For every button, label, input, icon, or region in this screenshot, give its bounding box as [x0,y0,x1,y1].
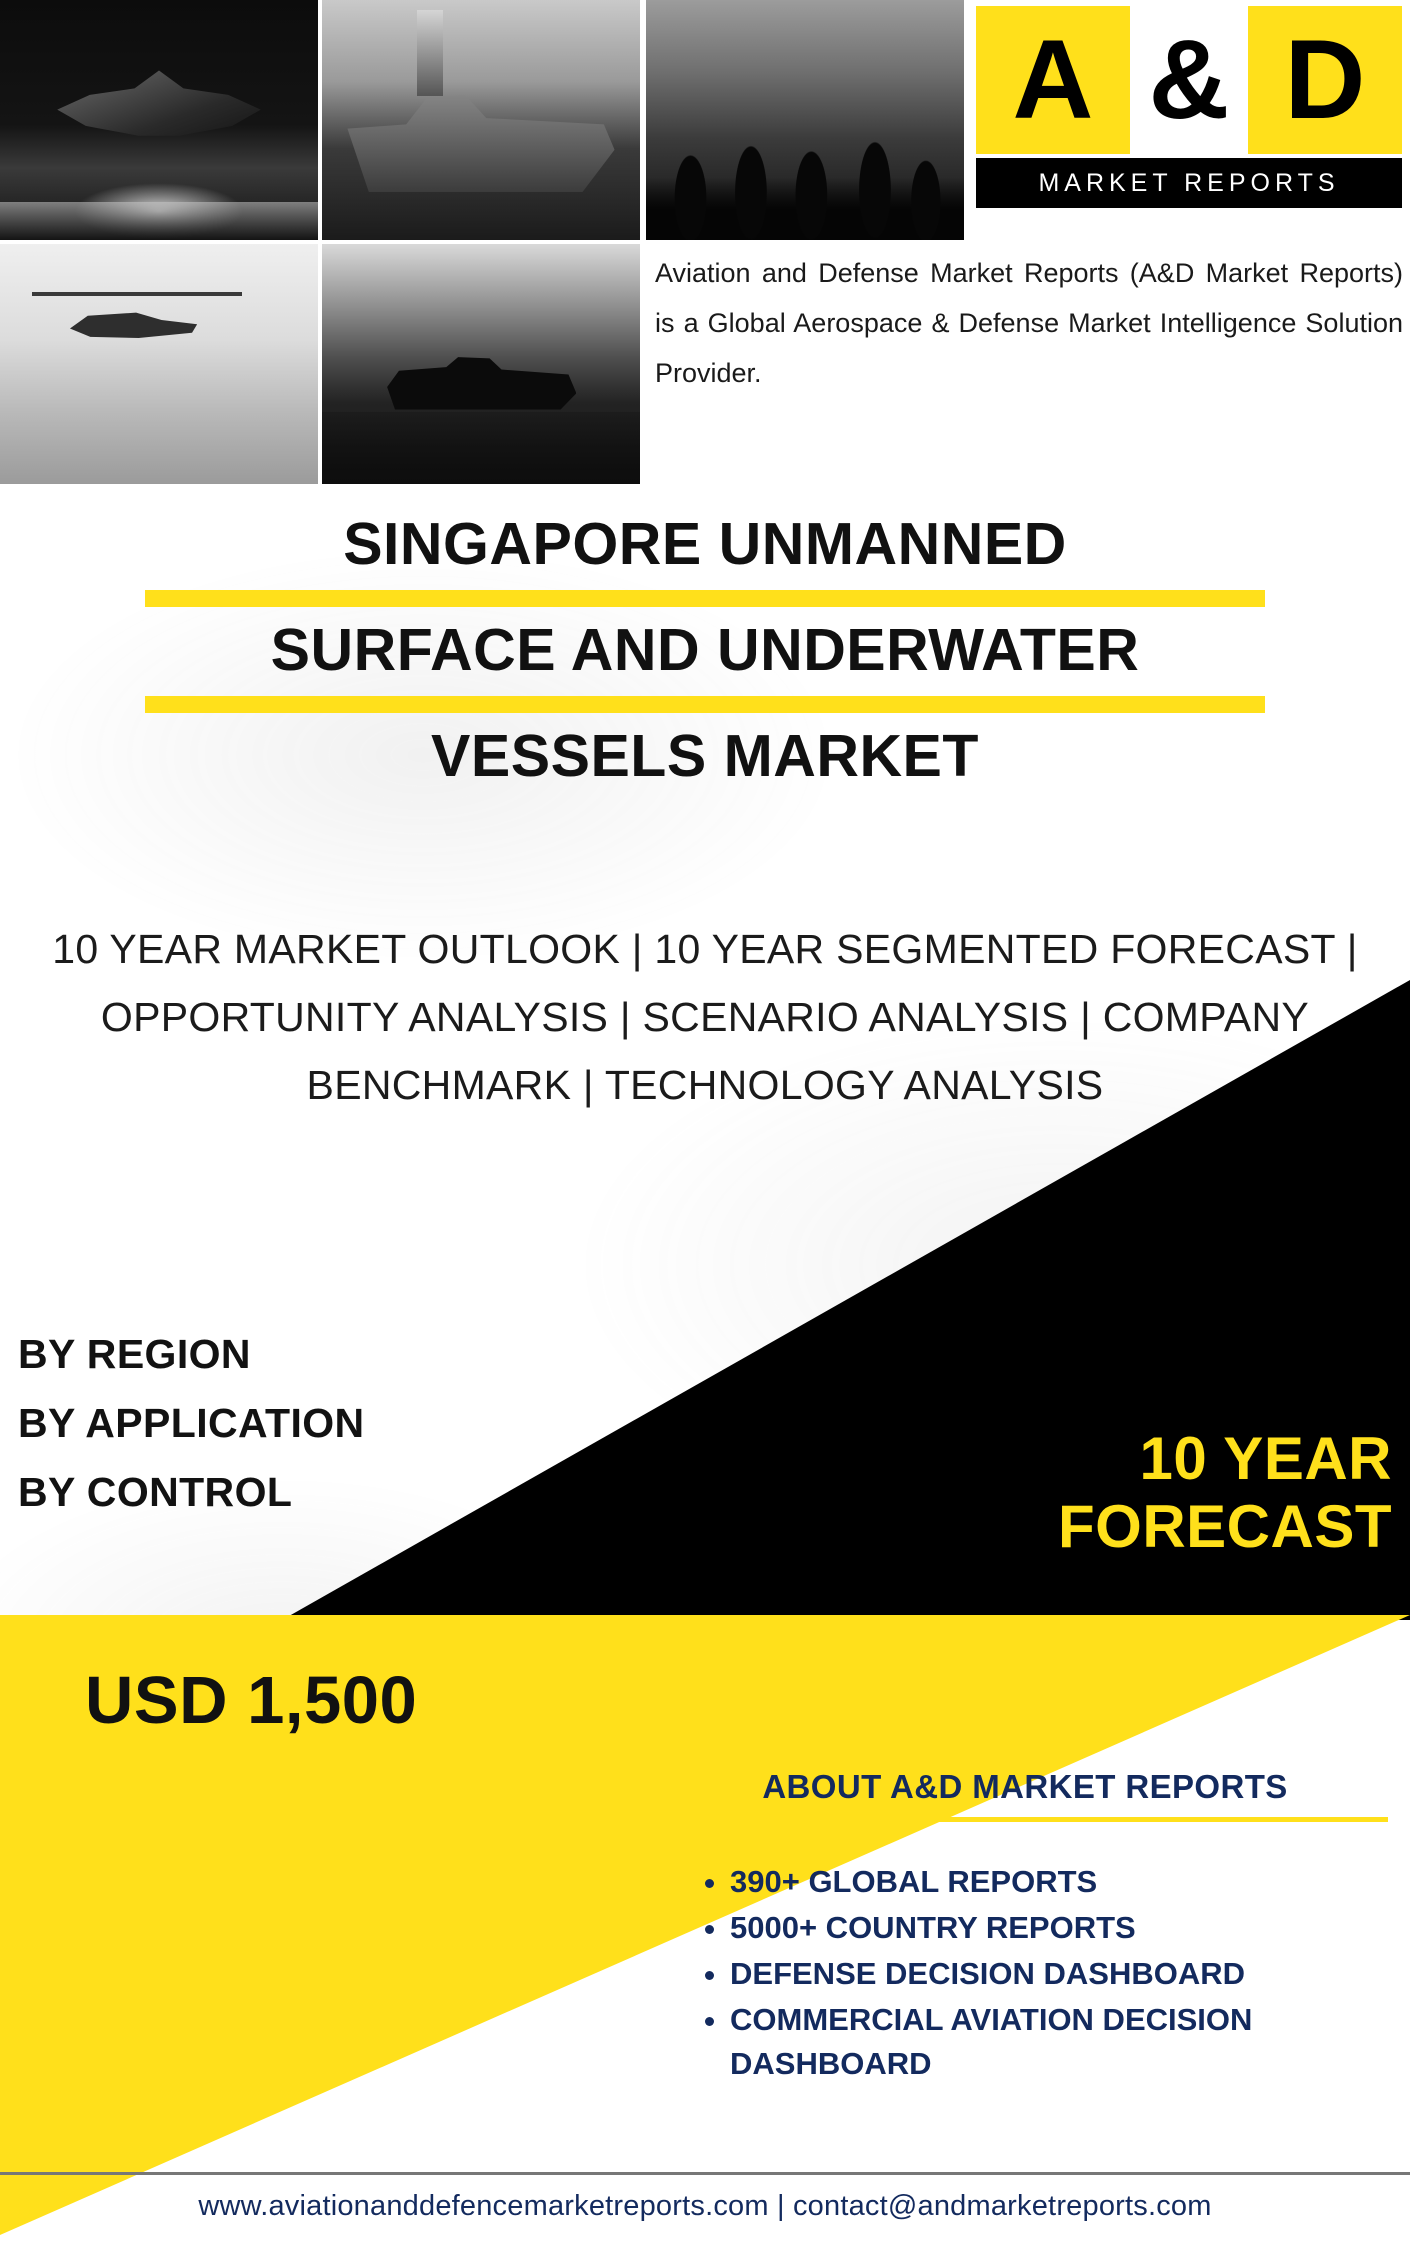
about-list-item: 5000+ COUNTRY REPORTS [730,1906,1390,1950]
about-list-item: DEFENSE DECISION DASHBOARD [730,1952,1390,1996]
report-title: SINGAPORE UNMANNED SURFACE AND UNDERWATE… [0,505,1410,792]
segmentation-list: BY REGION BY APPLICATION BY CONTROL [18,1320,365,1527]
segment-item-application: BY APPLICATION [18,1389,365,1458]
logo-letter-a-block: A [976,6,1130,154]
about-bullet-list: 390+ GLOBAL REPORTS 5000+ COUNTRY REPORT… [690,1860,1390,2088]
forecast-badge-line-2: FORECAST [872,1493,1392,1561]
about-list-item: 390+ GLOBAL REPORTS [730,1860,1390,1904]
segment-item-region: BY REGION [18,1320,365,1389]
soldiers-silhouette-photo [646,0,964,240]
photo-strip-top [0,0,960,245]
about-title-underline [660,1817,1388,1822]
photo-strip-second [0,244,640,488]
title-rule-1 [145,590,1265,607]
segment-item-control: BY CONTROL [18,1458,365,1527]
company-intro-text: Aviation and Defense Market Reports (A&D… [655,248,1403,398]
logo-tagline-bar: MARKET REPORTS [976,158,1402,208]
report-title-line-2: SURFACE AND UNDERWATER [0,611,1410,686]
brand-logo: A & D MARKET REPORTS [968,0,1410,215]
fighter-jet-photo [0,0,318,240]
logo-ampersand-block: & [1130,6,1248,154]
about-list-item: COMMERCIAL AVIATION DECISION DASHBOARD [730,1998,1390,2086]
armored-vehicle-photo [322,244,640,484]
forecast-badge: 10 YEAR FORECAST [872,1425,1392,1561]
logo-letter-d: D [1285,24,1366,136]
report-title-line-3: VESSELS MARKET [0,717,1410,792]
footer-contact[interactable]: www.aviationanddefencemarketreports.com … [0,2190,1410,2223]
logo-letters: A & D [976,6,1402,154]
title-rule-2 [145,696,1265,713]
report-title-line-1: SINGAPORE UNMANNED [0,505,1410,580]
logo-tagline: MARKET REPORTS [1038,169,1339,198]
helicopter-photo [0,244,318,484]
report-subtitle: 10 YEAR MARKET OUTLOOK | 10 YEAR SEGMENT… [40,915,1370,1119]
logo-letter-a: A [1013,24,1094,136]
aircraft-carrier-photo [322,0,640,240]
price-label: USD 1,500 [85,1662,417,1739]
report-cover-page: A & D MARKET REPORTS Aviation and Defens… [0,0,1410,2250]
logo-ampersand: & [1149,24,1230,136]
logo-letter-d-block: D [1248,6,1402,154]
footer-divider [0,2172,1410,2175]
forecast-badge-line-1: 10 YEAR [872,1425,1392,1493]
about-section-title: ABOUT A&D MARKET REPORTS [660,1768,1390,1806]
